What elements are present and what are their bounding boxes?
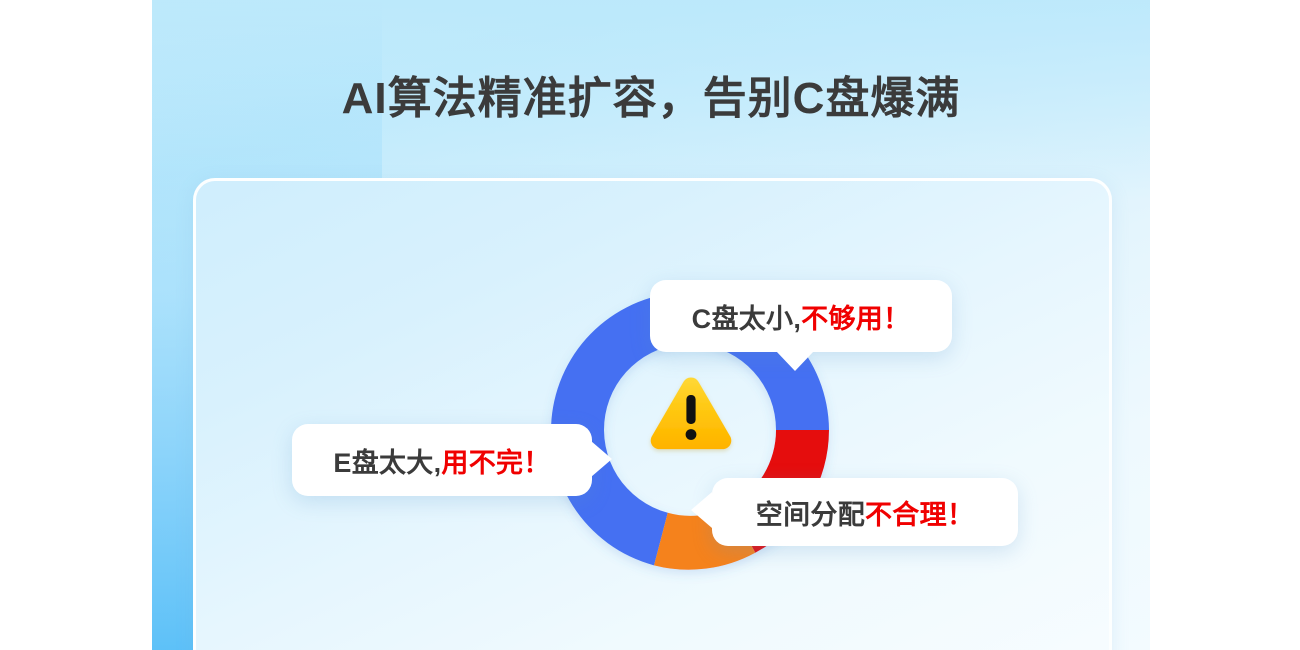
speech-bubble-c-drive-too-small[interactable]: C盘太小,不够用！	[650, 280, 952, 352]
bubble-text-dark: E盘太大,	[333, 441, 441, 480]
bubble-text-red: 不合理！	[865, 493, 974, 532]
bubble-tail-right-icon	[591, 441, 612, 477]
screenshot-root: AI算法精准扩容，告别C盘爆满	[0, 0, 1300, 650]
speech-bubble-space-allocation-unreasonable[interactable]: 空间分配不合理！	[712, 478, 1018, 546]
warning-triangle-icon	[645, 367, 737, 459]
bubble-text-dark: C盘太小,	[692, 297, 802, 336]
bubble-tail-left-icon	[691, 492, 712, 528]
bubble-text-red: 用不完！	[441, 441, 550, 480]
speech-bubble-e-drive-too-large[interactable]: E盘太大,用不完！	[292, 424, 592, 496]
page-title: AI算法精准扩容，告别C盘爆满	[152, 62, 1150, 126]
bubble-text-red: 不够用！	[801, 297, 910, 336]
bubble-text-dark: 空间分配	[756, 493, 865, 532]
bubble-tail-down-icon	[776, 351, 814, 371]
